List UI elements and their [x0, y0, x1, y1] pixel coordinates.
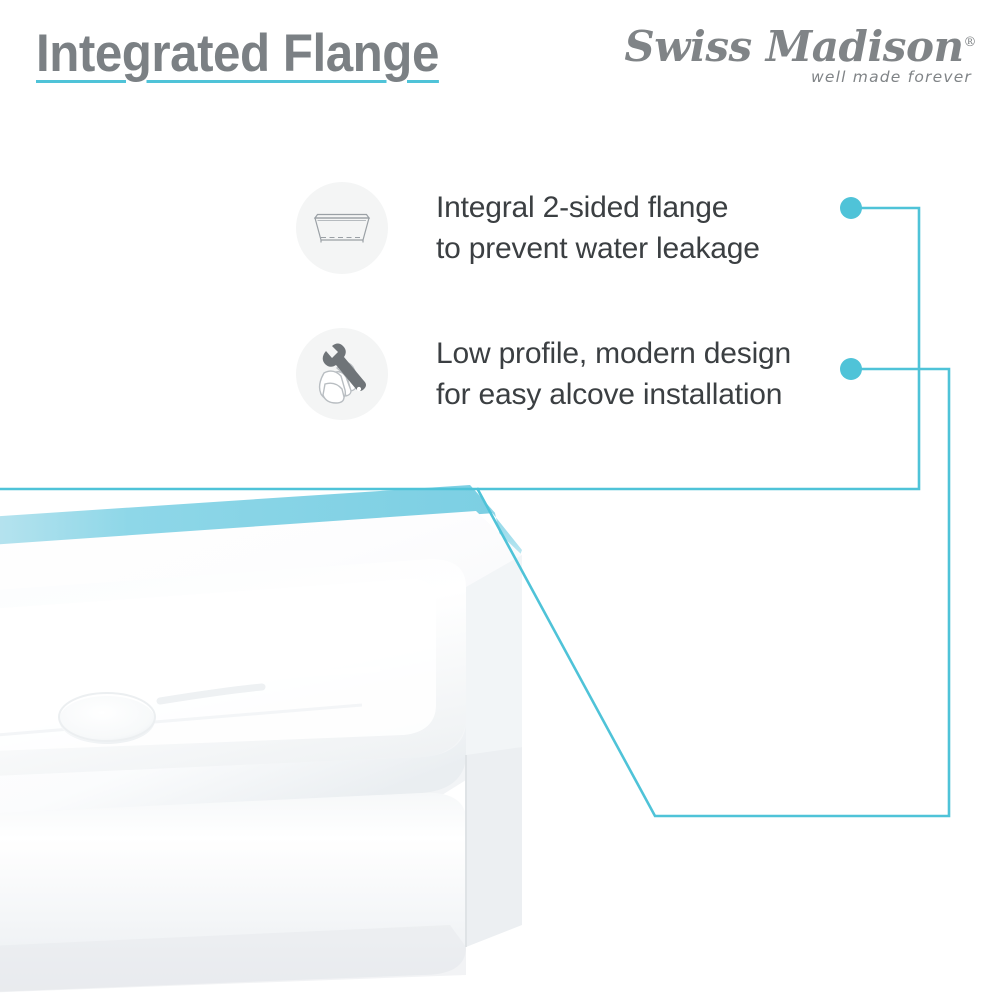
right-rim — [466, 555, 522, 755]
header: Integrated Flange Swiss Madison® well ma… — [0, 0, 1000, 120]
page-title: Integrated Flange — [36, 23, 439, 84]
shower-base-illustration — [0, 455, 700, 1000]
drain-opening — [59, 696, 155, 744]
shower-pan-outline-icon — [296, 182, 388, 274]
logo-wordmark: Swiss Madison® — [624, 26, 976, 68]
registered-trademark-icon: ® — [964, 35, 977, 50]
logo-tagline: well made forever — [811, 70, 972, 86]
feature-line-2: for easy alcove installation — [436, 374, 791, 415]
feature-text-low-profile: Low profile, modern design for easy alco… — [436, 333, 791, 415]
hand-wrench-icon — [296, 328, 388, 420]
right-apron — [466, 747, 522, 947]
brand-logo: Swiss Madison® well made forever — [674, 26, 984, 90]
hand-wrench-glyph — [311, 343, 373, 405]
logo-wordmark-text: Swiss Madison — [624, 22, 963, 71]
feature-text-flange: Integral 2-sided flange to prevent water… — [436, 187, 760, 269]
feature-line-2: to prevent water leakage — [436, 228, 760, 269]
feature-item-low-profile: Low profile, modern design for easy alco… — [296, 328, 791, 420]
feature-line-1: Low profile, modern design — [436, 333, 791, 374]
callout-dot-flange — [840, 197, 862, 219]
shower-pan-glyph — [312, 207, 372, 249]
product-image-shower-base — [0, 455, 700, 1000]
feature-item-flange: Integral 2-sided flange to prevent water… — [296, 182, 760, 274]
callout-dot-low-profile — [840, 358, 862, 380]
feature-line-1: Integral 2-sided flange — [436, 187, 760, 228]
